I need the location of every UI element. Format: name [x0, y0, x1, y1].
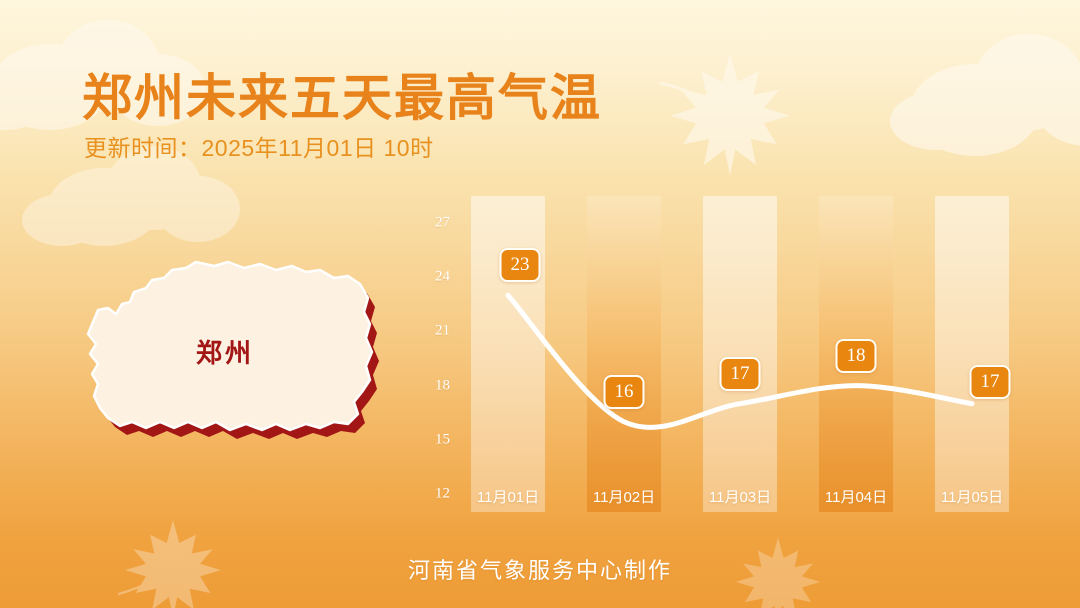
x-axis-tick: 11月01日 [477, 486, 539, 507]
y-axis-tick: 18 [416, 377, 450, 394]
x-axis-tick: 11月02日 [593, 486, 655, 507]
temperature-value-badge: 18 [836, 339, 877, 373]
maple-leaf-icon [660, 48, 800, 178]
x-axis-tick: 11月03日 [709, 486, 771, 507]
y-axis: 121518212427 [410, 196, 450, 512]
temperature-value-badge: 16 [604, 375, 645, 409]
temperature-chart: 121518212427 [410, 196, 1030, 512]
y-axis-tick: 27 [416, 215, 450, 232]
temperature-value-badge: 23 [500, 248, 541, 282]
y-axis-tick: 15 [416, 431, 450, 448]
y-axis-tick: 21 [416, 323, 450, 340]
weather-infographic: 郑州未来五天最高气温 更新时间：2025年11月01日 10时 郑州 12151… [0, 0, 1080, 608]
cloud-icon [890, 28, 1080, 153]
chart-plot-area [450, 196, 1030, 512]
x-axis-tick: 11月04日 [825, 486, 887, 507]
temperature-value-badge: 17 [970, 365, 1011, 399]
x-axis-tick: 11月05日 [941, 486, 1003, 507]
map-city-label: 郑州 [196, 333, 254, 370]
y-axis-tick: 24 [416, 269, 450, 286]
temperature-value-badge: 17 [720, 357, 761, 391]
credit-text: 河南省气象服务中心制作 [0, 553, 1080, 585]
update-time-text: 更新时间：2025年11月01日 10时 [84, 129, 434, 163]
temperature-line [450, 196, 1030, 512]
zhengzhou-map [68, 258, 408, 488]
page-title: 郑州未来五天最高气温 [82, 58, 602, 130]
x-axis: 11月01日11月02日11月03日11月04日11月05日 [410, 486, 1030, 512]
